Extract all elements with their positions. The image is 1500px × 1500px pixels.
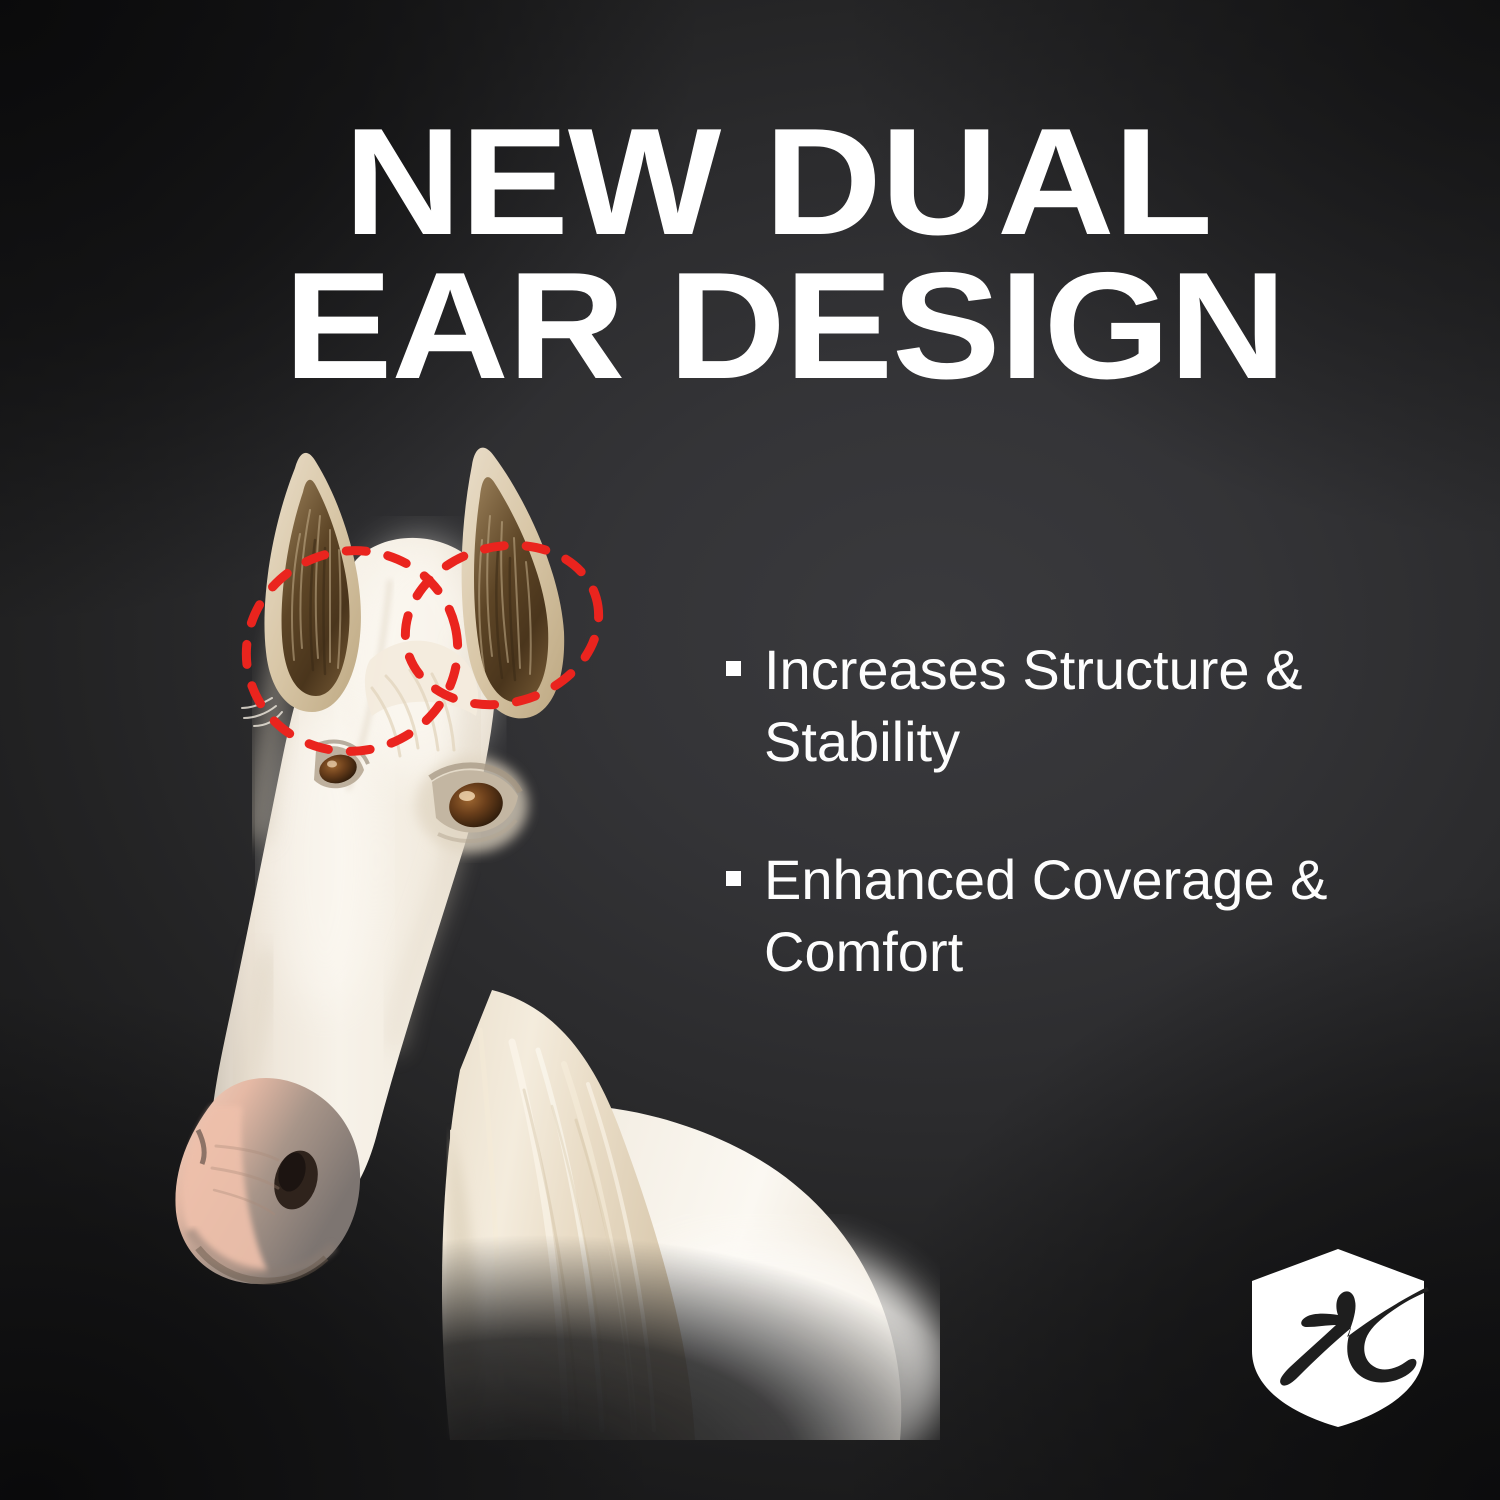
- horse-ear-right: [462, 448, 565, 719]
- headline-line-1: NEW DUAL: [344, 110, 1326, 254]
- feature-bullet-list: Increases Structure & Stability Enhanced…: [726, 634, 1426, 1054]
- headline-line-2: EAR DESIGN: [284, 254, 1330, 398]
- horse-eye-right: [416, 757, 528, 853]
- bullet-text: Enhanced Coverage & Comfort: [764, 844, 1374, 988]
- square-bullet-icon: [726, 871, 741, 886]
- brand-logo: [1243, 1247, 1433, 1429]
- headline: NEW DUAL EAR DESIGN: [282, 110, 1262, 398]
- horse-ear-left: [242, 453, 361, 726]
- bullet-text: Increases Structure & Stability: [764, 634, 1374, 778]
- horse-muzzle: [175, 1078, 360, 1284]
- list-item: Enhanced Coverage & Comfort: [726, 844, 1426, 988]
- list-item: Increases Structure & Stability: [726, 634, 1426, 778]
- promo-graphic: NEW DUAL EAR DESIGN: [0, 0, 1500, 1500]
- square-bullet-icon: [726, 661, 741, 676]
